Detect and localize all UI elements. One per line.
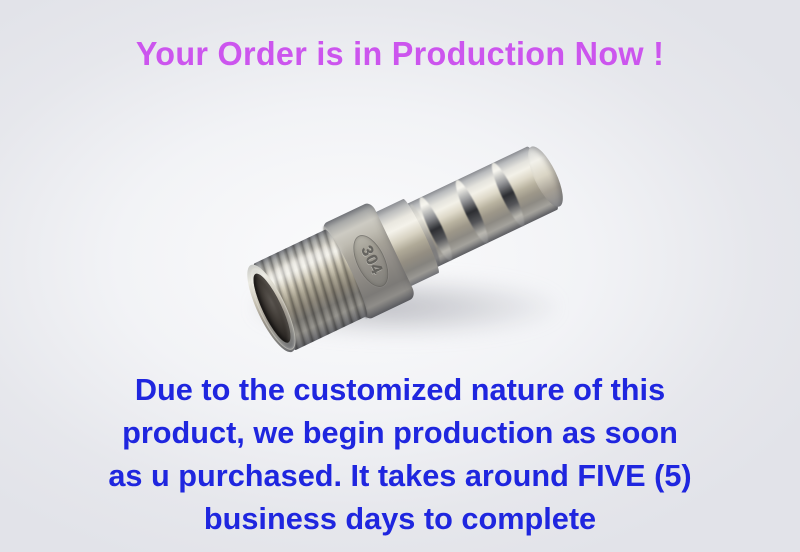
notice-line: as u purchased. It takes around FIVE (5) [4, 454, 796, 497]
notice-line: business days to complete [4, 497, 796, 540]
notice-line: Due to the customized nature of this [4, 368, 796, 411]
notice-line: product, we begin production as soon [4, 411, 796, 454]
product-photo: 304 [246, 166, 576, 362]
promo-banner: Your Order is in Production Now ! 304 [0, 0, 800, 552]
page-title: Your Order is in Production Now ! [8, 36, 792, 72]
production-notice: Due to the customized nature of this pro… [0, 368, 800, 540]
